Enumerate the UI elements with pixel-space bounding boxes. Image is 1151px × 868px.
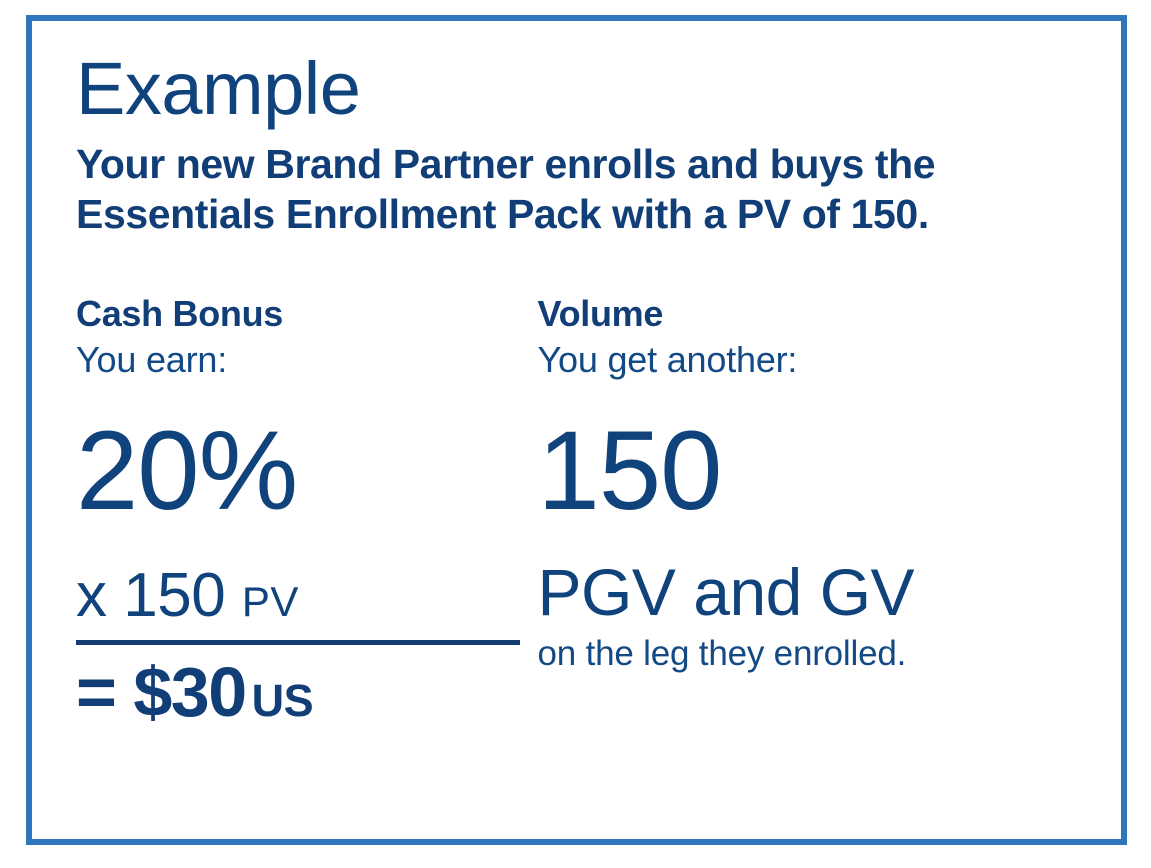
equals-operator: = [76,653,115,731]
card-content: Example Your new Brand Partner enrolls a… [32,21,1121,839]
multiplier-value: 150 [123,561,225,630]
cash-bonus-multiplier-line: x 150 PV [76,565,538,627]
cash-bonus-column: Cash Bonus You earn: 20% x 150 PV = $30U… [76,294,538,727]
volume-lead: You get another: [538,339,1077,380]
cash-bonus-total-line: = $30US [76,657,538,727]
multiplier-unit: PV [242,578,299,625]
cash-bonus-currency: US [252,675,314,726]
volume-heading: Volume [538,294,1077,334]
cash-bonus-lead: You earn: [76,339,538,380]
card-subtitle: Your new Brand Partner enrolls and buys … [76,140,1077,239]
fraction-divider-rule [76,640,520,645]
cash-bonus-total-amount: $30 [133,653,245,731]
cash-bonus-heading: Cash Bonus [76,294,538,334]
columns-container: Cash Bonus You earn: 20% x 150 PV = $30U… [76,294,1077,727]
multiplier-operator: x [76,561,107,630]
volume-column: Volume You get another: 150 PGV and GV o… [538,294,1077,727]
volume-note: on the leg they enrolled. [538,635,1077,674]
volume-units: PGV and GV [538,559,1077,625]
volume-amount: 150 [538,415,1077,527]
example-card: Example Your new Brand Partner enrolls a… [26,15,1127,845]
cash-bonus-percent: 20% [76,415,538,527]
page-title: Example [76,51,1077,126]
